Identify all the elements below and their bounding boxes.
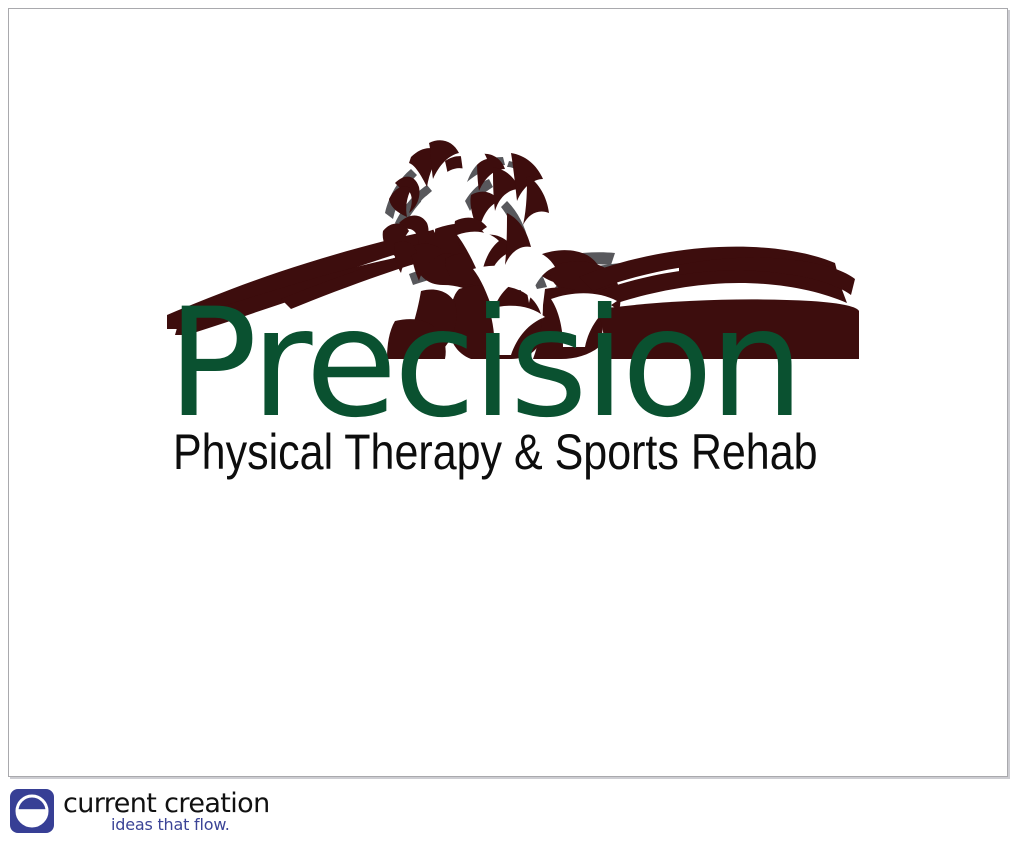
precision-logo-lockup: Precision Physical Therapy & Sports Reha…	[159, 139, 859, 489]
brand-tagline: Physical Therapy & Sports Rehab	[173, 426, 775, 478]
logo-presentation-canvas: Precision Physical Therapy & Sports Reha…	[8, 8, 1008, 777]
agency-tagline: ideas that flow.	[111, 816, 230, 834]
agency-credit: current creation ideas that flow.	[10, 789, 248, 839]
current-creation-logo-icon	[10, 789, 54, 833]
agency-wordmark-block: current creation ideas that flow.	[63, 789, 248, 835]
brand-name: Precision	[167, 289, 867, 439]
agency-name: current creation	[63, 790, 270, 817]
